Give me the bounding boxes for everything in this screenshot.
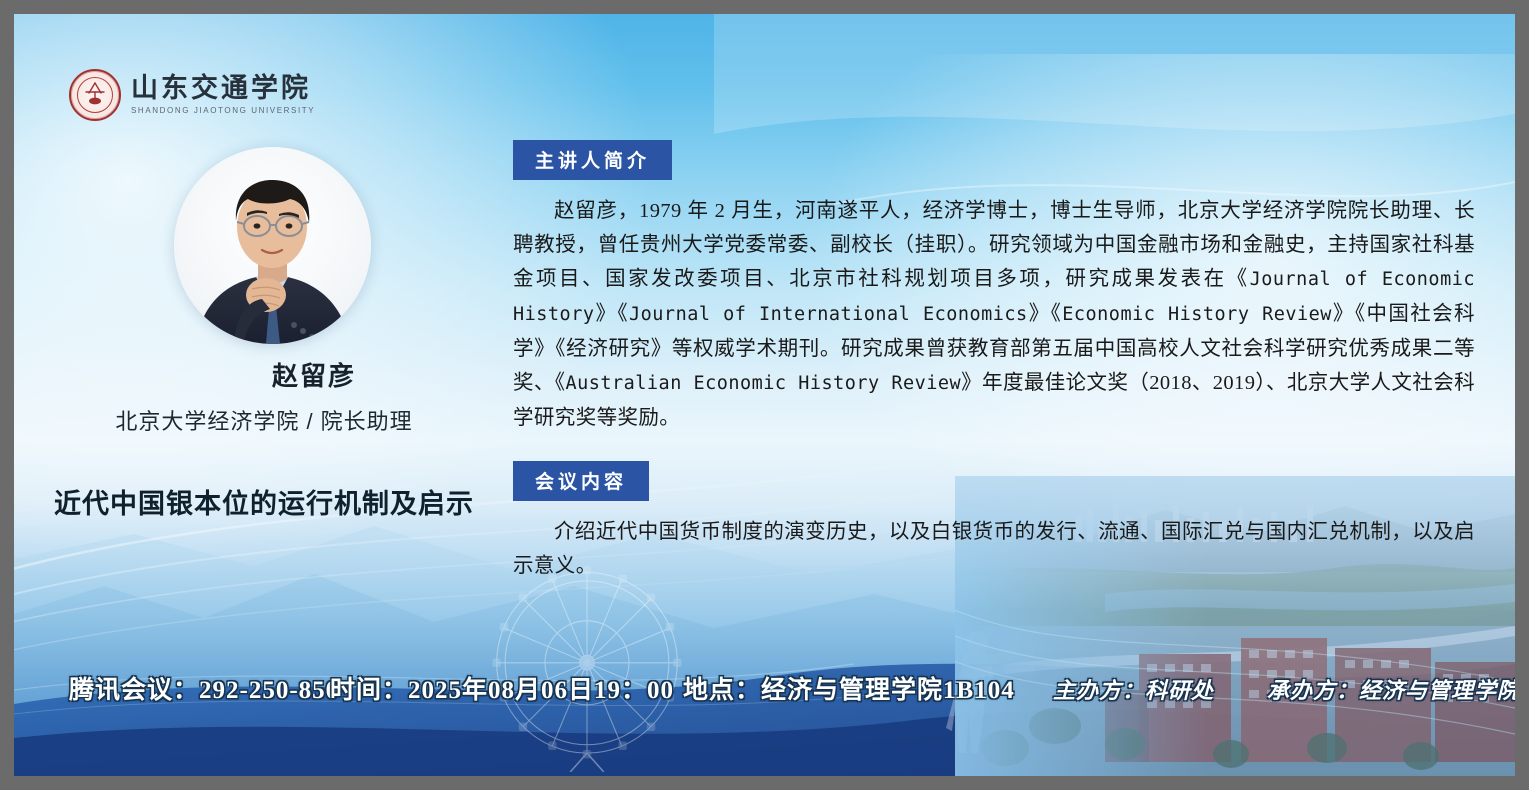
footer-place-value: 经济与管理学院1B104 — [761, 677, 1015, 704]
footer-time-label: 时间： — [330, 677, 408, 704]
university-logo: 山东交通学院 SHANDONG JIAOTONG UNIVERSITY — [69, 69, 315, 121]
footer-organizer-value: 经济与管理学院 — [1359, 678, 1515, 703]
lecture-title: 近代中国银本位的运行机制及启示 — [14, 482, 514, 521]
speaker-bio-text: 赵留彦，1979 年 2 月生，河南遂平人，经济学博士，博士生导师，北京大学经济… — [513, 194, 1475, 435]
footer-meeting-label: 腾讯会议： — [69, 677, 199, 704]
footer-host-label: 主办方： — [1053, 678, 1145, 703]
footer-time: 时间：2025年08月06日19：00 — [330, 670, 674, 706]
speaker-affiliation: 北京大学经济学院 / 院长助理 — [14, 404, 514, 436]
footer-organizer: 承办方：经济与管理学院 — [1267, 673, 1515, 705]
footer-place: 地点：经济与管理学院1B104 — [683, 670, 1015, 706]
footer-host: 主办方：科研处 — [1053, 673, 1214, 705]
footer-time-value: 2025年08月06日19：00 — [408, 677, 674, 704]
journal-name-4: Australian Economic History Review — [565, 373, 961, 394]
bio-sep-1: 》《 — [594, 303, 629, 325]
footer-meeting: 腾讯会议：292-250-850 — [69, 670, 339, 706]
section-agenda: 会议内容 介绍近代中国货币制度的演变历史，以及白银货币的发行、流通、国际汇兑与国… — [513, 461, 1475, 583]
badge-speaker-bio: 主讲人简介 — [513, 140, 672, 180]
footer-place-label: 地点： — [683, 677, 761, 704]
seal-emblem-icon — [84, 81, 106, 105]
journal-name-3: Economic History Review — [1062, 304, 1332, 325]
section-speaker-bio: 主讲人简介 赵留彦，1979 年 2 月生，河南遂平人，经济学博士，博士生导师，… — [513, 140, 1475, 435]
university-name-en: SHANDONG JIAOTONG UNIVERSITY — [131, 107, 315, 115]
badge-agenda: 会议内容 — [513, 461, 649, 501]
footer-organizer-label: 承办方： — [1267, 678, 1359, 703]
speaker-portrait — [174, 147, 371, 344]
footer-meeting-id: 292-250-850 — [199, 677, 339, 704]
content-column: 主讲人简介 赵留彦，1979 年 2 月生，河南遂平人，经济学博士，博士生导师，… — [513, 140, 1475, 604]
university-name-cn: 山东交通学院 — [131, 75, 315, 102]
footer-host-value: 科研处 — [1145, 678, 1214, 703]
university-seal-icon — [69, 69, 121, 121]
footer-bar: 腾讯会议：292-250-850 时间：2025年08月06日19：00 地点：… — [14, 664, 1515, 712]
poster-canvas: 山东交通学院 SHANDONG JIAOTONG UNIVERSITY — [14, 14, 1515, 776]
journal-name-2: Journal of International Economics — [629, 304, 1028, 325]
bio-sep-2: 》《 — [1028, 303, 1063, 325]
speaker-name: 赵留彦 — [272, 356, 356, 393]
agenda-text: 介绍近代中国货币制度的演变历史，以及白银货币的发行、流通、国际汇兑与国内汇兑机制… — [513, 515, 1475, 583]
